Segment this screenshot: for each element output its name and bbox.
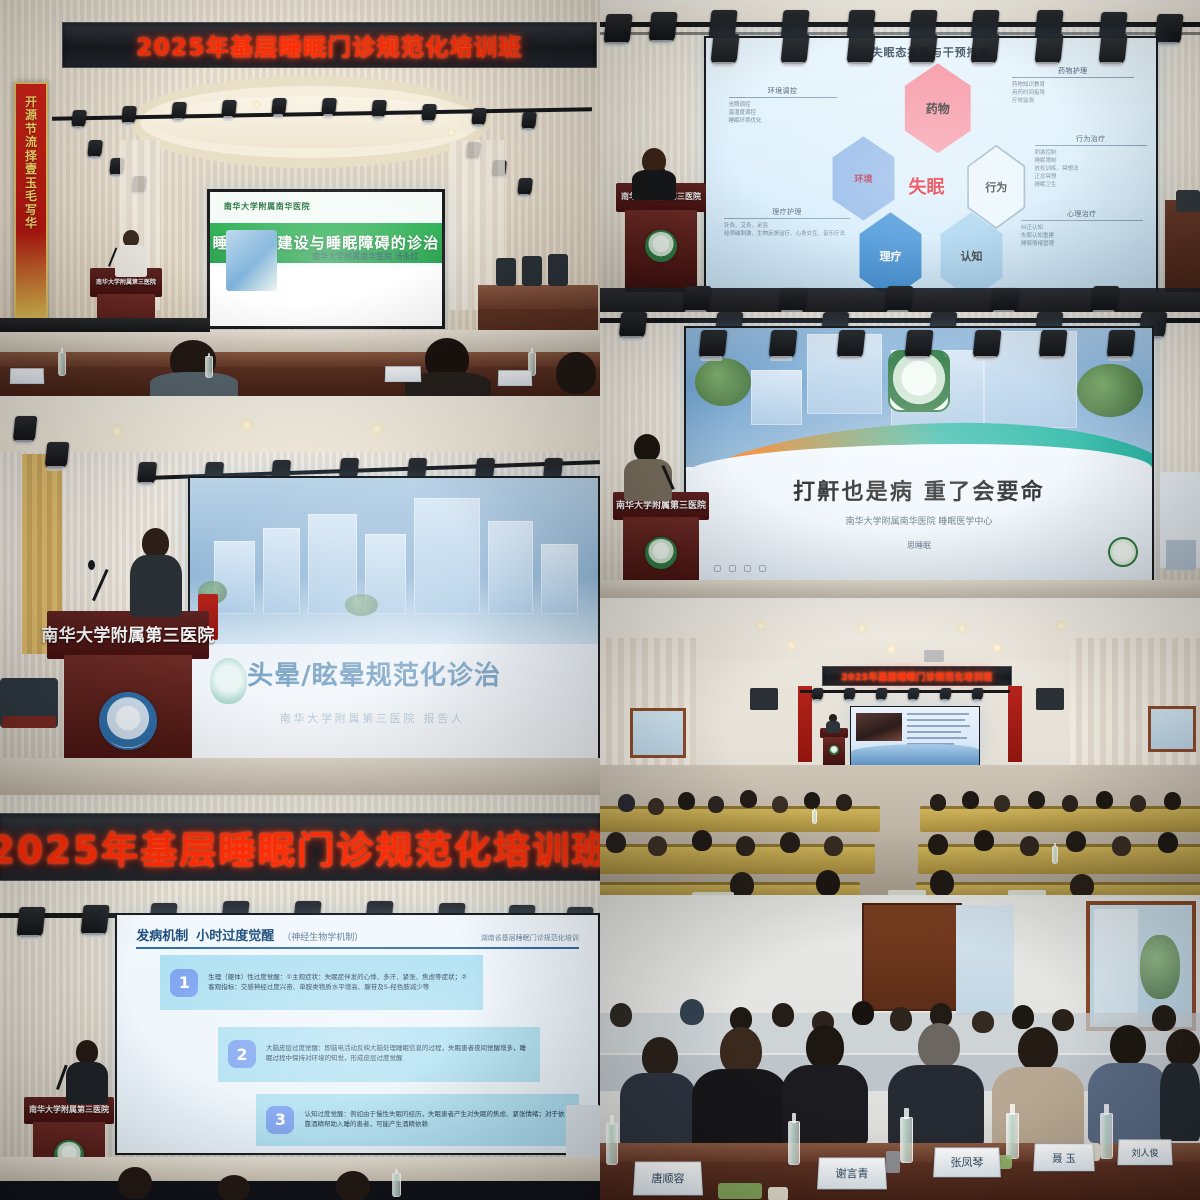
toolbar-pointer-icon[interactable] bbox=[729, 565, 736, 572]
hexagon-label: 环境 bbox=[854, 172, 872, 185]
name-card: 张凤琴 bbox=[933, 1147, 1001, 1177]
led-banner-text: 2025年基层睡眠门诊规范化培训班 bbox=[136, 28, 522, 62]
group-item: 失眠认知重建 bbox=[1021, 231, 1143, 239]
panel-front-row-guests: 唐顺容 谢言青 张凤琴 聂 玉 刘人俊 bbox=[600, 895, 1200, 1200]
group-item: 睡眠限制 bbox=[1035, 156, 1148, 164]
slide-head-title-2: 小时过度觉醒 bbox=[196, 925, 274, 944]
guest-person bbox=[1160, 1029, 1200, 1141]
group-heading: 心理治疗 bbox=[1021, 209, 1143, 221]
mechanism-number: 3 bbox=[266, 1106, 294, 1134]
slide-head-right: 湖南省基层睡眠门诊规范化培训 bbox=[481, 933, 579, 943]
hexagon-label: 认知 bbox=[961, 248, 983, 264]
led-banner-text: 2025年基层睡眠门诊规范化培训班 bbox=[0, 820, 600, 874]
slide-center-label: 失眠 bbox=[909, 173, 945, 199]
hospital-emblem-icon bbox=[829, 745, 839, 755]
projection-screen: 南华大学附属南华医院 睡眠门诊建设与睡眠障碍的诊治 南华大学附属南华医院 汤永红 bbox=[207, 189, 445, 329]
group-item: 刺激控制 bbox=[1035, 148, 1148, 156]
group-item: 纠正认知 bbox=[1021, 223, 1143, 231]
group-item: 睡眠情绪管理 bbox=[1021, 239, 1143, 247]
group-item: 光照调控 bbox=[729, 100, 837, 108]
panel-nursing-hexagon: 失眠态护理与干预措施 药物 环境 行为 理疗 bbox=[600, 0, 1200, 312]
couplet-text: 毛 bbox=[25, 190, 37, 203]
slide-author: 南华大学附属南华医院 汤永红 bbox=[312, 251, 419, 262]
group-item: 针灸、艾灸、足浴 bbox=[724, 221, 850, 229]
guest-person bbox=[692, 1027, 788, 1153]
name-card-text: 刘人俊 bbox=[1131, 1146, 1158, 1159]
toolbar-zoom-icon[interactable] bbox=[744, 565, 751, 572]
toolbar-menu-icon[interactable] bbox=[759, 565, 766, 572]
slide-subtitle: 南华大学附属第三医院 报告人 bbox=[280, 710, 465, 726]
couplet-text: 壹 bbox=[25, 163, 37, 176]
group-item: 睡眠环境优化 bbox=[729, 116, 837, 124]
mechanism-box: 2 大脑皮层过度觉醒：即脑电活动反映大脑处理睡眠信息的过程，失眠患者夜间觉醒增多… bbox=[218, 1027, 540, 1082]
mechanism-box: 3 认知过度觉醒：例如由于慢性失眠的经历，失眠患者产生对失眠的焦虑、紧张情绪；对… bbox=[256, 1094, 578, 1146]
name-card: 聂 玉 bbox=[1033, 1143, 1095, 1171]
panel-insomnia-mechanism: 2025年基层睡眠门诊规范化培训班 发病机制 小时过度觉醒 （神经生物学机制） bbox=[0, 795, 600, 1200]
name-card bbox=[498, 370, 532, 386]
name-card: 刘人俊 bbox=[1117, 1139, 1172, 1165]
couplet-text: 华 bbox=[25, 217, 37, 230]
slide-presenter: 思睡眠 bbox=[686, 540, 1152, 551]
slide-title: 打鼾也是病 重了会要命 bbox=[686, 474, 1152, 506]
red-couplet-banner: 开 源 节 流 择 壹 玉 毛 写 华 bbox=[14, 82, 48, 332]
group-heading: 药物护理 bbox=[1012, 66, 1134, 78]
couplet-text: 流 bbox=[25, 136, 37, 149]
slide-logo-mark bbox=[210, 658, 247, 704]
group-item: 用药时间指导 bbox=[1012, 88, 1134, 96]
panel-snoring-lecture: 打鼾也是病 重了会要命 南华大学附属南华医院 睡眠医学中心 思睡眠 bbox=[600, 312, 1200, 598]
slide-decor-image bbox=[226, 230, 277, 292]
hospital-emblem-icon bbox=[99, 692, 157, 750]
projection-screen: 打鼾也是病 重了会要命 南华大学附属南华医院 睡眠医学中心 思睡眠 bbox=[684, 326, 1154, 582]
couplet-text: 写 bbox=[25, 204, 37, 217]
podium-plaque: 南华大学附属第三医院 bbox=[50, 617, 207, 650]
speaker-person bbox=[114, 230, 148, 276]
group-item: 温湿度调控 bbox=[729, 108, 837, 116]
hexagon-drug: 药物 bbox=[900, 63, 977, 153]
slide-header: 发病机制 小时过度觉醒 （神经生物学机制） 湖南省基层睡眠门诊规范化培训 bbox=[136, 925, 579, 949]
toolbar-pen-icon[interactable] bbox=[714, 565, 721, 572]
group-heading: 行为治疗 bbox=[1035, 134, 1148, 146]
name-card bbox=[385, 366, 422, 382]
hexagon-label: 理疗 bbox=[880, 248, 902, 264]
name-card: 唐顺容 bbox=[633, 1162, 703, 1196]
speaker-person bbox=[66, 1040, 108, 1102]
group-item: 放松训练、冥想法 bbox=[1035, 164, 1148, 172]
group-item: 睡眠卫生 bbox=[1035, 180, 1148, 188]
mechanism-box: 1 生理（躯体）性过度觉醒：①主观症状：失眠症伴发的心悸、多汗、紧张、焦虑等症状… bbox=[160, 955, 482, 1010]
projection-screen: 头晕/眩晕规范化诊治 南华大学附属第三医院 报告人 bbox=[188, 476, 600, 766]
name-card-text: 谢言青 bbox=[835, 1165, 868, 1181]
name-card bbox=[10, 368, 44, 384]
group-heading: 环境调控 bbox=[729, 86, 837, 98]
slide-title: 头晕/眩晕规范化诊治 bbox=[247, 655, 501, 692]
photo-collage: 2025年基层睡眠门诊规范化培训班 开 源 节 流 择 壹 玉 毛 写 华 bbox=[0, 0, 1200, 1200]
name-card: 谢言青 bbox=[817, 1158, 887, 1190]
door bbox=[862, 903, 962, 1011]
slideshow-toolbar[interactable] bbox=[714, 565, 766, 572]
led-banner: 2025年基层睡眠门诊规范化培训班 bbox=[62, 22, 597, 68]
podium bbox=[822, 728, 846, 766]
slide-subtitle: 南华大学附属南华医院 睡眠医学中心 bbox=[686, 514, 1152, 527]
red-couplet-banner bbox=[1008, 686, 1022, 762]
group-item: 正念冥想 bbox=[1035, 172, 1148, 180]
panel-hall-wide-audience: 2025年基层睡眠门诊规范化培训班 bbox=[600, 598, 1200, 895]
slide-head-title: 发病机制 bbox=[136, 925, 188, 944]
mechanism-number: 2 bbox=[228, 1040, 256, 1068]
group-item: 疗效监测 bbox=[1012, 96, 1134, 104]
panel-vertigo-lecture: 头晕/眩晕规范化诊治 南华大学附属第三医院 报告人 南华大学附属第三医院 bbox=[0, 396, 600, 795]
couplet-text: 源 bbox=[25, 109, 37, 122]
hospital-emblem-icon bbox=[645, 230, 677, 262]
speaker-person bbox=[128, 528, 180, 618]
group-item: 药物知识教育 bbox=[1012, 80, 1134, 88]
panel-opening-lecture: 2025年基层睡眠门诊规范化培训班 开 源 节 流 择 壹 玉 毛 写 华 bbox=[0, 0, 600, 396]
mechanism-text: 认知过度觉醒：例如由于慢性失眠的经历，失眠患者产生对失眠的焦虑、紧张情绪；对于依… bbox=[304, 1110, 568, 1130]
name-card-text: 聂 玉 bbox=[1052, 1150, 1075, 1165]
name-card-text: 唐顺容 bbox=[651, 1170, 684, 1186]
group-heading: 理疗护理 bbox=[724, 207, 850, 219]
slide-video-thumbnail bbox=[856, 713, 902, 741]
red-couplet-banner bbox=[798, 686, 812, 762]
hexagon-label: 行为 bbox=[985, 179, 1007, 195]
projection-screen: 失眠态护理与干预措施 药物 环境 行为 理疗 bbox=[704, 36, 1158, 312]
hexagon-label: 药物 bbox=[926, 100, 950, 117]
speaker-person bbox=[826, 714, 840, 732]
projection-screen bbox=[850, 706, 980, 766]
hospital-emblem-icon bbox=[645, 537, 677, 569]
led-banner: 2025年基层睡眠门诊规范化培训班 bbox=[0, 813, 600, 881]
mechanism-text: 大脑皮层过度觉醒：即脑电活动反映大脑处理睡眠信息的过程，失眠患者夜间觉醒增多，睡… bbox=[266, 1044, 530, 1064]
slide-header-logo: 南华大学附属南华医院 bbox=[224, 201, 310, 212]
slide-head-note: （神经生物学机制） bbox=[282, 930, 363, 943]
group-item: 经颅磁刺激、生物反馈治疗、心身交互、音乐疗法 bbox=[724, 229, 850, 237]
projection-screen: 发病机制 小时过度觉醒 （神经生物学机制） 湖南省基层睡眠门诊规范化培训 1 生… bbox=[115, 913, 600, 1155]
mechanism-text: 生理（躯体）性过度觉醒：①主观症状：失眠症伴发的心悸、多汗、紧张、焦虑等症状；②… bbox=[208, 973, 472, 993]
name-card-text: 张凤琴 bbox=[950, 1154, 983, 1170]
mechanism-number: 1 bbox=[170, 969, 198, 997]
led-banner: 2025年基层睡眠门诊规范化培训班 bbox=[822, 666, 1012, 686]
guest-person bbox=[620, 1037, 696, 1147]
led-banner-text: 2025年基层睡眠门诊规范化培训班 bbox=[841, 670, 992, 683]
